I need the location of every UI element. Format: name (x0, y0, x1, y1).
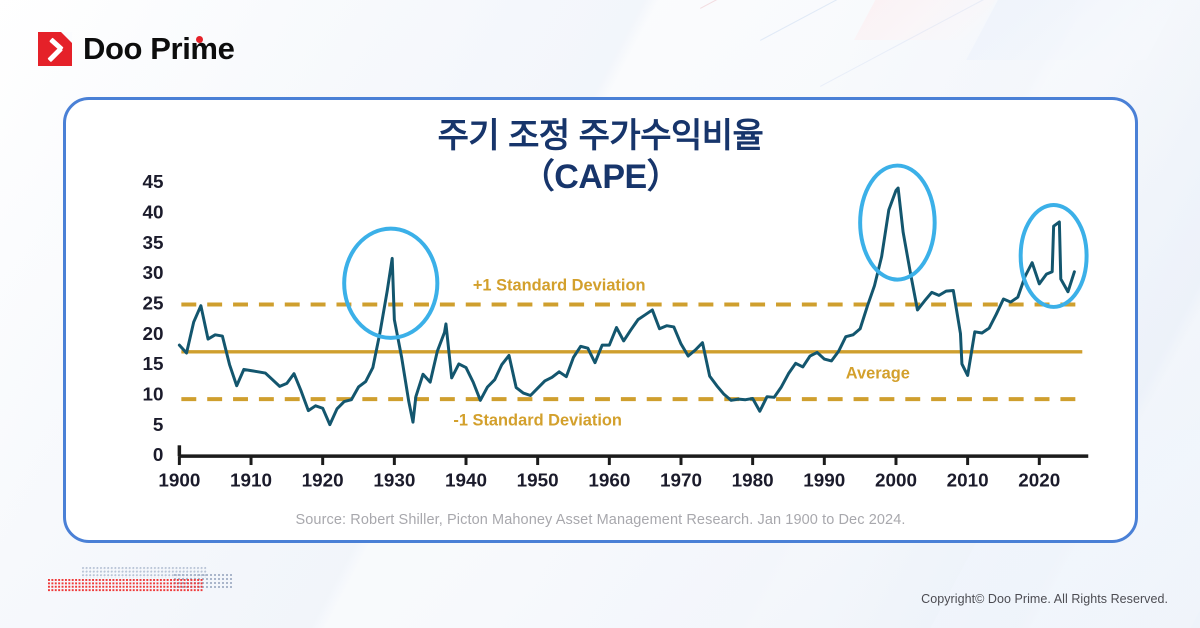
axis-lines (179, 445, 1088, 465)
x-tick-1920: 1920 (302, 470, 344, 491)
y-axis-tick-labels: 051015202530354045 (142, 171, 163, 465)
x-tick-1960: 1960 (588, 470, 630, 491)
brand-logo: Doo Prime (38, 31, 234, 67)
x-tick-2020: 2020 (1018, 470, 1060, 491)
x-tick-1930: 1930 (373, 470, 415, 491)
refline-label--1-standard-deviation: +1 Standard Deviation (473, 277, 646, 295)
y-tick-25: 25 (142, 293, 163, 314)
refline-label-average: Average (846, 364, 910, 382)
x-tick-1910: 1910 (230, 470, 272, 491)
x-tick-2010: 2010 (947, 470, 989, 491)
background-shape-a (966, 0, 1194, 60)
background-streak-3 (760, 0, 1200, 41)
chart-card: 주기 조정 주가수익비율 （CAPE） 051015202530354045 1… (63, 97, 1138, 543)
doo-prime-mark-icon (38, 32, 72, 66)
y-tick-20: 20 (142, 323, 163, 344)
x-tick-1980: 1980 (732, 470, 774, 491)
highlight-circles (344, 166, 1086, 338)
footer-decoration (22, 566, 237, 598)
y-tick-35: 35 (142, 232, 163, 253)
background-shape-b (854, 0, 1006, 40)
source-note: Source: Robert Shiller, Picton Mahoney A… (66, 512, 1135, 528)
copyright-text: Copyright© Doo Prime. All Rights Reserve… (921, 592, 1168, 606)
cape-line-chart: 051015202530354045 190019101920193019401… (66, 100, 1135, 540)
logo-i-dot-icon (196, 36, 203, 43)
y-tick-45: 45 (142, 171, 163, 192)
y-tick-5: 5 (153, 414, 164, 435)
x-tick-1950: 1950 (517, 470, 559, 491)
x-tick-1970: 1970 (660, 470, 702, 491)
y-tick-15: 15 (142, 353, 163, 374)
2000-peak-circle (860, 166, 935, 280)
y-tick-30: 30 (142, 262, 163, 283)
x-axis-tick-labels: 1900191019201930194019501960197019801990… (158, 470, 1060, 491)
x-tick-1940: 1940 (445, 470, 487, 491)
1929-peak-circle (344, 229, 437, 338)
y-tick-10: 10 (142, 383, 163, 404)
background-streak-2 (700, 0, 1200, 9)
halftone-red (48, 579, 203, 592)
x-tick-1990: 1990 (803, 470, 845, 491)
brand-name: Doo Prime (83, 31, 234, 67)
y-tick-40: 40 (142, 202, 163, 223)
x-tick-1900: 1900 (158, 470, 200, 491)
y-tick-0: 0 (153, 444, 164, 465)
reference-lines (181, 304, 1082, 399)
x-tick-2000: 2000 (875, 470, 917, 491)
refline-label--1-standard-deviation: -1 Standard Deviation (453, 412, 622, 430)
background-streak-4 (820, 0, 1200, 87)
